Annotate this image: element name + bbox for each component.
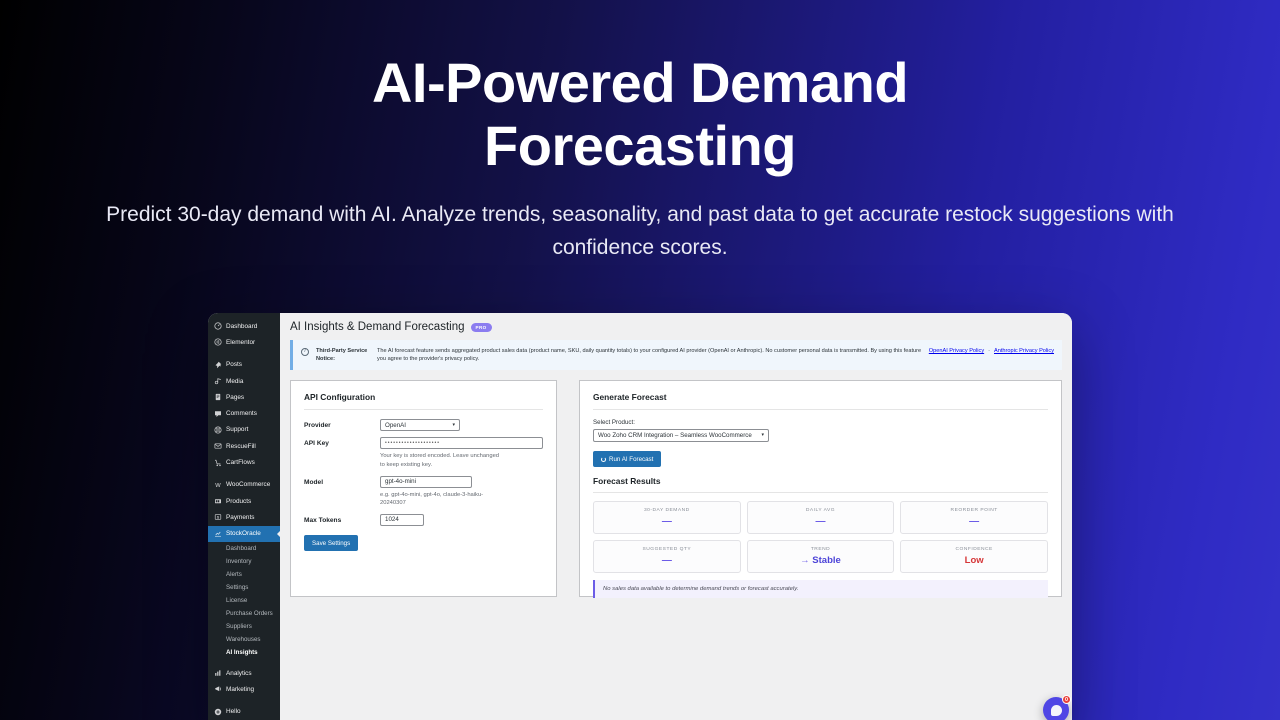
- sidebar-submenu-ai-insights[interactable]: AI Insights: [208, 646, 280, 659]
- page-title: AI-Powered Demand Forecasting: [260, 52, 1020, 177]
- sidebar-submenu-dashboard[interactable]: Dashboard: [208, 542, 280, 555]
- chevron-down-icon: ▾: [761, 432, 764, 438]
- sidebar-item-cartflows[interactable]: CartFlows: [208, 454, 280, 470]
- run-ai-forecast-label: Run AI Forecast: [609, 456, 653, 463]
- submenu-label: Alerts: [226, 571, 242, 578]
- cart-icon: [214, 459, 222, 467]
- sidebar-submenu-purchase-orders[interactable]: Purchase Orders: [208, 607, 280, 620]
- metric-key: REORDER POINT: [951, 508, 998, 513]
- save-settings-label: Save Settings: [312, 540, 350, 547]
- api-key-row: API Key •••••••••••••••••••• Your key is…: [304, 437, 543, 469]
- sidebar-item-products[interactable]: Products: [208, 493, 280, 509]
- submenu-label: Settings: [226, 584, 248, 591]
- lifebuoy-icon: [214, 426, 222, 434]
- submenu-label: License: [226, 597, 247, 604]
- hero-section: AI-Powered Demand Forecasting Predict 30…: [0, 0, 1280, 265]
- sidebar-item-payments[interactable]: $ Payments: [208, 509, 280, 525]
- chat-widget-button[interactable]: 0: [1043, 697, 1069, 720]
- metric-card-reorder-point: REORDER POINT —: [900, 501, 1048, 534]
- generate-forecast-heading: Generate Forecast: [593, 392, 1048, 410]
- forecast-metrics-grid: 30-DAY DEMAND — DAILY AVG — REORDER POIN…: [593, 501, 1048, 573]
- envelope-icon: [214, 442, 222, 450]
- product-selected-value: Woo Zoho CRM Integration – Seamless WooC…: [598, 432, 752, 439]
- metric-value: Stable: [812, 555, 841, 566]
- sidebar-item-label: Pages: [226, 394, 244, 401]
- sidebar-item-label: CartFlows: [226, 459, 255, 466]
- sidebar-item-label: Support: [226, 426, 248, 433]
- sidebar-item-label: Dashboard: [226, 323, 257, 330]
- submenu-label: Dashboard: [226, 545, 256, 552]
- metric-key: SUGGESTED QTY: [643, 547, 692, 552]
- media-icon: [214, 377, 222, 385]
- metric-value: Low: [965, 556, 984, 566]
- notice-label: Third-Party Service Notice:: [316, 347, 370, 363]
- payments-icon: $: [214, 513, 222, 521]
- api-configuration-card: API Configuration Provider OpenAI ▾ API …: [290, 380, 557, 597]
- model-row: Model gpt-4o-mini e.g. gpt-4o-mini, gpt-…: [304, 476, 543, 508]
- model-label: Model: [304, 476, 380, 508]
- submenu-label: Inventory: [226, 558, 251, 565]
- openai-privacy-policy-link[interactable]: OpenAI Privacy Policy: [929, 347, 984, 355]
- sidebar-item-support[interactable]: Support: [208, 422, 280, 438]
- max-tokens-value: 1024: [385, 516, 399, 523]
- max-tokens-input[interactable]: 1024: [380, 514, 424, 526]
- plus-circle-icon: [214, 708, 222, 716]
- notice-links: OpenAI Privacy Policy · Anthropic Privac…: [929, 347, 1054, 355]
- pin-icon: [214, 361, 222, 369]
- products-icon: [214, 497, 222, 505]
- model-hint: e.g. gpt-4o-mini, gpt-4o, claude-3-haiku…: [380, 491, 505, 508]
- sidebar-submenu-alerts[interactable]: Alerts: [208, 568, 280, 581]
- sidebar-item-label: Marketing: [226, 686, 254, 693]
- submenu-label: Suppliers: [226, 623, 252, 630]
- elementor-icon: [214, 338, 222, 346]
- info-icon: i: [301, 348, 309, 356]
- sidebar-submenu-warehouses[interactable]: Warehouses: [208, 633, 280, 646]
- run-ai-forecast-button[interactable]: Run AI Forecast: [593, 451, 661, 467]
- woo-icon: W: [214, 481, 222, 489]
- comment-icon: [214, 410, 222, 418]
- metric-key: 30-DAY DEMAND: [644, 508, 690, 513]
- wp-admin-sidebar[interactable]: Dashboard Elementor Posts Media Pages Co…: [208, 313, 280, 720]
- third-party-notice: i Third-Party Service Notice: The AI for…: [290, 340, 1062, 370]
- sidebar-item-comments[interactable]: Comments: [208, 405, 280, 421]
- metric-value: —: [662, 556, 672, 566]
- metric-value: —: [662, 517, 672, 527]
- metric-value: —: [815, 517, 825, 527]
- admin-screenshot-panel: Dashboard Elementor Posts Media Pages Co…: [208, 313, 1072, 720]
- submenu-label: Purchase Orders: [226, 610, 273, 617]
- pro-badge: PRO: [471, 323, 492, 332]
- api-key-input[interactable]: ••••••••••••••••••••: [380, 437, 543, 449]
- api-key-hint: Your key is stored encoded. Leave unchan…: [380, 452, 505, 469]
- sidebar-item-media[interactable]: Media: [208, 373, 280, 389]
- notice-body: The AI forecast feature sends aggregated…: [377, 347, 922, 363]
- megaphone-icon: [214, 685, 222, 693]
- sidebar-submenu-settings[interactable]: Settings: [208, 581, 280, 594]
- gauge-icon: [214, 322, 222, 330]
- save-settings-button[interactable]: Save Settings: [304, 535, 358, 551]
- sidebar-item-label: Elementor: [226, 339, 255, 346]
- submenu-label: AI Insights: [226, 649, 258, 656]
- sidebar-item-pages[interactable]: Pages: [208, 389, 280, 405]
- max-tokens-label: Max Tokens: [304, 514, 380, 526]
- model-input[interactable]: gpt-4o-mini: [380, 476, 472, 488]
- select-product-label: Select Product:: [593, 419, 1048, 426]
- sidebar-item-label: WooCommerce: [226, 481, 270, 488]
- wp-admin-content: AI Insights & Demand Forecasting PRO i T…: [280, 313, 1072, 720]
- svg-text:$: $: [217, 515, 220, 520]
- sidebar-item-rescuefill[interactable]: RescueFill: [208, 438, 280, 454]
- hero-subtitle: Predict 30-day demand with AI. Analyze t…: [68, 199, 1213, 264]
- anthropic-privacy-policy-link[interactable]: Anthropic Privacy Policy: [994, 347, 1054, 355]
- sidebar-item-woocommerce[interactable]: W WooCommerce: [208, 477, 280, 493]
- svg-text:W: W: [215, 483, 221, 489]
- metric-key: DAILY AVG: [806, 508, 835, 513]
- sidebar-item-dashboard[interactable]: Dashboard: [208, 318, 280, 334]
- submenu-label: Warehouses: [226, 636, 261, 643]
- metric-card-30-day-demand: 30-DAY DEMAND —: [593, 501, 741, 534]
- sidebar-item-label: Comments: [226, 410, 257, 417]
- spinner-icon: [601, 457, 606, 462]
- sidebar-submenu-suppliers[interactable]: Suppliers: [208, 620, 280, 633]
- page-icon: [214, 393, 222, 401]
- provider-select[interactable]: OpenAI ▾: [380, 419, 460, 431]
- forecast-results-heading: Forecast Results: [593, 476, 1048, 493]
- link-separator: ·: [988, 347, 990, 355]
- api-key-value: ••••••••••••••••••••: [385, 440, 440, 446]
- sidebar-item-posts[interactable]: Posts: [208, 357, 280, 373]
- sidebar-item-analytics[interactable]: Analytics: [208, 665, 280, 681]
- max-tokens-row: Max Tokens 1024: [304, 514, 543, 526]
- analytics-icon: [214, 669, 222, 677]
- sidebar-item-stockoracle[interactable]: StockOracle: [208, 526, 280, 542]
- sidebar-submenu-license[interactable]: License: [208, 594, 280, 607]
- settings-columns: API Configuration Provider OpenAI ▾ API …: [290, 380, 1062, 597]
- sidebar-item-label: Payments: [226, 514, 254, 521]
- chart-icon: [214, 530, 222, 538]
- product-select[interactable]: Woo Zoho CRM Integration – Seamless WooC…: [593, 429, 769, 442]
- metric-value-wrap: → Stable: [800, 556, 841, 566]
- sidebar-submenu-inventory[interactable]: Inventory: [208, 555, 280, 568]
- chat-bubble-icon: [1051, 705, 1062, 716]
- sidebar-item-label: Analytics: [226, 670, 252, 677]
- metric-card-suggested-qty: SUGGESTED QTY —: [593, 540, 741, 573]
- sidebar-item-elementor[interactable]: Elementor: [208, 334, 280, 350]
- sidebar-item-label: Products: [226, 498, 251, 505]
- forecast-insight-message: No sales data available to determine dem…: [593, 580, 1048, 598]
- metric-card-trend: TREND → Stable: [747, 540, 895, 573]
- model-value: gpt-4o-mini: [385, 478, 416, 485]
- provider-row: Provider OpenAI ▾: [304, 419, 543, 431]
- trend-arrow-icon: →: [800, 555, 810, 566]
- api-key-label: API Key: [304, 437, 380, 469]
- sidebar-item-hello[interactable]: Hello: [208, 703, 280, 719]
- metric-card-daily-avg: DAILY AVG —: [747, 501, 895, 534]
- metric-card-confidence: CONFIDENCE Low: [900, 540, 1048, 573]
- sidebar-item-label: Hello: [226, 708, 241, 715]
- chat-unread-badge: 0: [1062, 695, 1071, 704]
- metric-key: TREND: [811, 547, 830, 552]
- generate-forecast-card: Generate Forecast Select Product: Woo Zo…: [579, 380, 1062, 597]
- provider-selected-value: OpenAI: [385, 422, 406, 429]
- sidebar-item-label: Media: [226, 378, 243, 385]
- metric-value: —: [969, 517, 979, 527]
- sidebar-item-label: StockOracle: [226, 530, 261, 537]
- api-config-heading: API Configuration: [304, 392, 543, 410]
- sidebar-item-label: RescueFill: [226, 443, 256, 450]
- admin-page-header: AI Insights & Demand Forecasting PRO: [290, 321, 1062, 333]
- sidebar-item-label: Posts: [226, 361, 242, 368]
- metric-key: CONFIDENCE: [955, 547, 992, 552]
- sidebar-item-marketing[interactable]: Marketing: [208, 681, 280, 697]
- chevron-down-icon: ▾: [452, 422, 455, 428]
- provider-label: Provider: [304, 419, 380, 431]
- admin-page-title: AI Insights & Demand Forecasting: [290, 321, 465, 333]
